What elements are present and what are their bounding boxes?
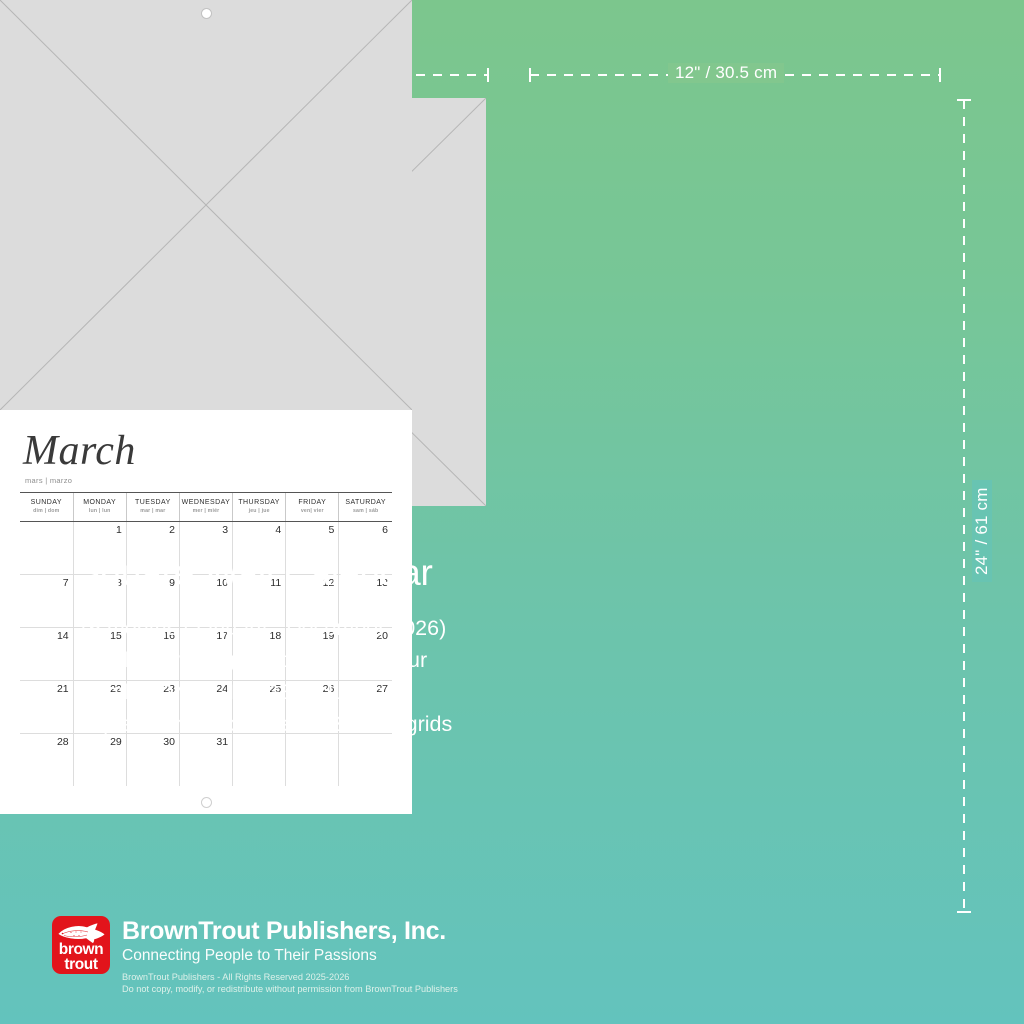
weekday-header-friday: FRIDAY ven| vier: [286, 492, 339, 521]
product-promo-graphic: 12" / 30.5 cm 12" / 30.5 cm March mars |…: [0, 0, 1024, 1024]
calendar-day-cell: [286, 733, 339, 786]
calendar-day-cell: 14: [20, 627, 73, 680]
description-line: September - December 2025 mini grids: [77, 708, 547, 740]
right-height-cap-bottom: [957, 911, 971, 913]
right-placeholder-cross: [0, 0, 412, 410]
calendar-week-row: 28 29 30 31: [20, 733, 392, 786]
calendar-day-cell: 30: [126, 733, 179, 786]
right-height-label: 24" / 61 cm: [972, 480, 992, 582]
description-line: month BONUS IMAGE including: [77, 676, 547, 708]
calendar-day-cell: [20, 521, 73, 574]
logo-wordmark: brown trout: [52, 942, 110, 972]
calendar-day-cell: [233, 733, 286, 786]
weekday-header-monday: MONDAY lun | lun: [73, 492, 126, 521]
weekday-header-thursday: THURSDAY jeu | jue: [233, 492, 286, 521]
description-line: monthly two-page layouts plus a four: [77, 644, 547, 676]
legal-line-rights: BrownTrout Publishers - All Rights Reser…: [122, 972, 458, 984]
calendar-day-cell: 28: [20, 733, 73, 786]
calendar-day-cell: 31: [179, 733, 232, 786]
calendar-day-cell: 7: [20, 574, 73, 627]
weekday-header-sunday: SUNDAY dim | dom: [20, 492, 73, 521]
left-width-cap-end: [487, 68, 489, 82]
right-height-cap-top: [957, 99, 971, 101]
product-description: 16 months (January - December 2026) mont…: [77, 612, 547, 740]
calendar-month-subtitle: mars | marzo: [20, 476, 392, 485]
publisher-footer: brown trout BrownTrout Publishers, Inc. …: [52, 916, 458, 995]
hanging-hole-icon-top: [201, 8, 212, 19]
description-line: 16 months (January - December 2026): [77, 612, 547, 644]
legal-line-restriction: Do not copy, modify, or redistribute wit…: [122, 984, 458, 996]
right-width-cap-end: [939, 68, 941, 82]
calendar-day-cell: 21: [20, 680, 73, 733]
calendar-weekday-header-row: SUNDAY dim | dom MONDAY lun | lun TUESDA…: [20, 492, 392, 521]
legal-notice: BrownTrout Publishers - All Rights Reser…: [122, 972, 458, 995]
logo-word-brown: brown: [52, 942, 110, 957]
calendar-image-page: [0, 0, 412, 410]
right-width-cap-start: [529, 68, 531, 82]
calendar-day-cell: [339, 733, 392, 786]
browntrout-logo: brown trout: [52, 916, 110, 974]
calendar-day-cell: 29: [73, 733, 126, 786]
hanging-hole-icon-bottom: [201, 797, 212, 808]
page-title: Square Wall Calendar: [76, 552, 433, 594]
footer-text-block: BrownTrout Publishers, Inc. Connecting P…: [122, 916, 458, 995]
weekday-header-tuesday: TUESDAY mar | mar: [126, 492, 179, 521]
right-height-dimension-line: [963, 100, 965, 912]
weekday-header-wednesday: WEDNESDAY mer | miér: [179, 492, 232, 521]
weekday-header-saturday: SATURDAY sam | sáb: [339, 492, 392, 521]
calendar-month-title: March: [20, 432, 392, 472]
logo-word-trout: trout: [52, 957, 110, 972]
publisher-name: BrownTrout Publishers, Inc.: [122, 917, 458, 945]
right-width-label: 12" / 30.5 cm: [668, 63, 784, 83]
publisher-tagline: Connecting People to Their Passions: [122, 946, 458, 966]
